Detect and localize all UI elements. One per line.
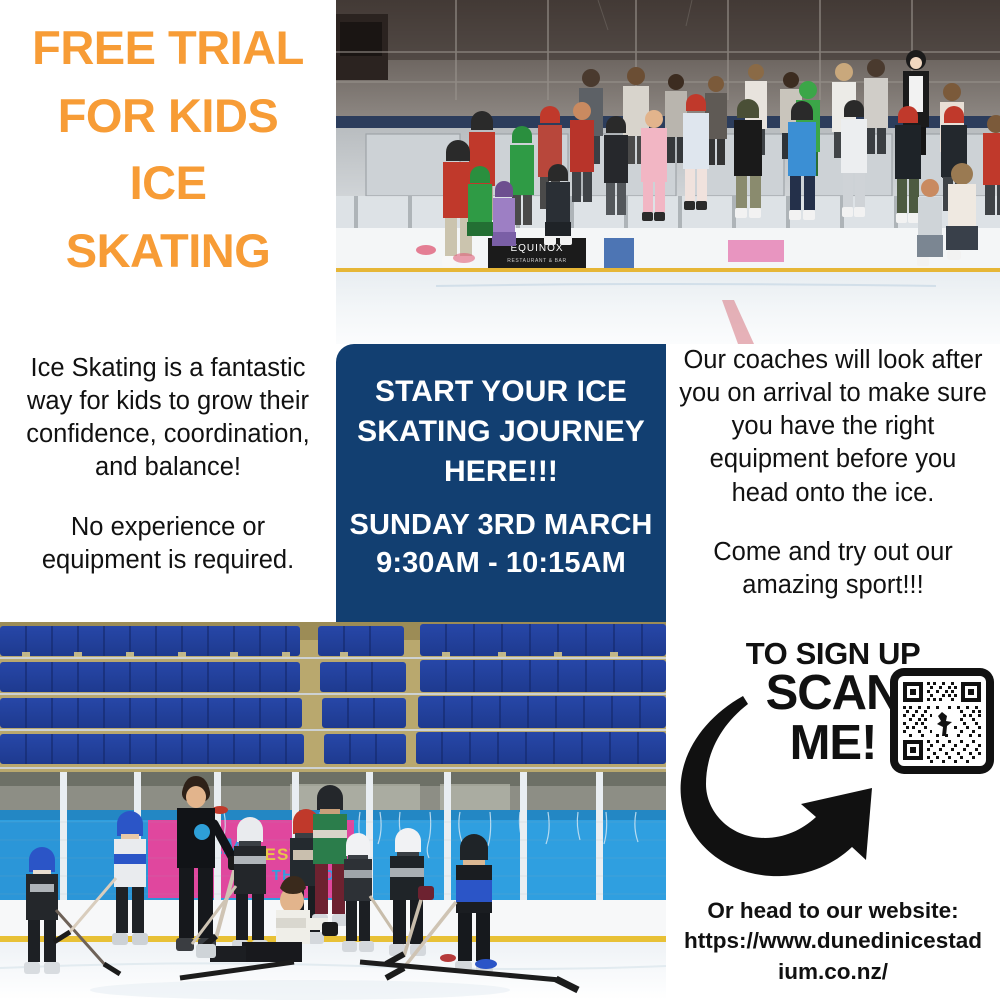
headline-line-1: FREE TRIAL xyxy=(32,14,304,82)
website-block: Or head to our website: https://www.dune… xyxy=(666,896,1000,987)
qr-code-icon-graphic[interactable] xyxy=(888,666,996,776)
headline-block: FREE TRIAL FOR KIDS ICE SKATING xyxy=(0,0,336,344)
group-skating-photo-graphic: EQUINOX RESTAURANT & BAR xyxy=(336,0,1000,344)
right-copy-block: Our coaches will look after you on arriv… xyxy=(666,344,1000,602)
curved-arrow-icon xyxy=(670,684,880,884)
right-copy-paragraph-1: Our coaches will look after you on arriv… xyxy=(678,344,988,510)
svg-text:RESTAURANT & BAR: RESTAURANT & BAR xyxy=(507,258,566,264)
hockey-kids-photo-graphic: ZM BEST SEATS IN THE HOUSE xyxy=(0,622,666,1000)
event-heading-line-2: SKATING JOURNEY xyxy=(357,412,645,452)
event-time: 9:30AM - 10:15AM xyxy=(376,544,626,583)
left-copy-spacer xyxy=(8,485,328,511)
left-copy-paragraph-1: Ice Skating is a fantastic way for kids … xyxy=(8,352,328,485)
to-sign-up-label: TO SIGN UP xyxy=(742,638,924,669)
qr-code-icon[interactable] xyxy=(888,666,996,776)
headline-line-4: SKATING xyxy=(66,217,271,285)
right-copy-paragraph-2: Come and try out our amazing sport!!! xyxy=(678,536,988,602)
event-details-panel: START YOUR ICE SKATING JOURNEY HERE!!! S… xyxy=(336,344,666,622)
website-url-line-2[interactable]: ium.co.nz/ xyxy=(672,957,994,987)
scan-call-to-action: TO SIGN UP SCAN ME! xyxy=(666,636,1000,886)
hockey-kids-photo: ZM BEST SEATS IN THE HOUSE xyxy=(0,622,666,1000)
left-copy-block: Ice Skating is a fantastic way for kids … xyxy=(0,344,336,622)
website-url-line-1[interactable]: https://www.dunedinicestad xyxy=(672,926,994,956)
curved-arrow-icon-graphic xyxy=(670,684,880,884)
event-heading-line-1: START YOUR ICE xyxy=(375,372,627,412)
group-skating-photo: EQUINOX RESTAURANT & BAR xyxy=(336,0,1000,344)
headline-line-3: ICE xyxy=(130,149,207,217)
event-date: SUNDAY 3RD MARCH xyxy=(350,506,653,545)
right-copy-spacer xyxy=(678,510,988,536)
event-heading-line-3: HERE!!! xyxy=(444,452,558,492)
left-copy-paragraph-2: No experience or equipment is required. xyxy=(8,511,328,577)
svg-text:EQUINOX: EQUINOX xyxy=(510,243,563,254)
headline-line-2: FOR KIDS xyxy=(58,82,279,150)
poster-canvas: FREE TRIAL FOR KIDS ICE SKATING xyxy=(0,0,1000,1000)
website-prompt: Or head to our website: xyxy=(672,896,994,926)
